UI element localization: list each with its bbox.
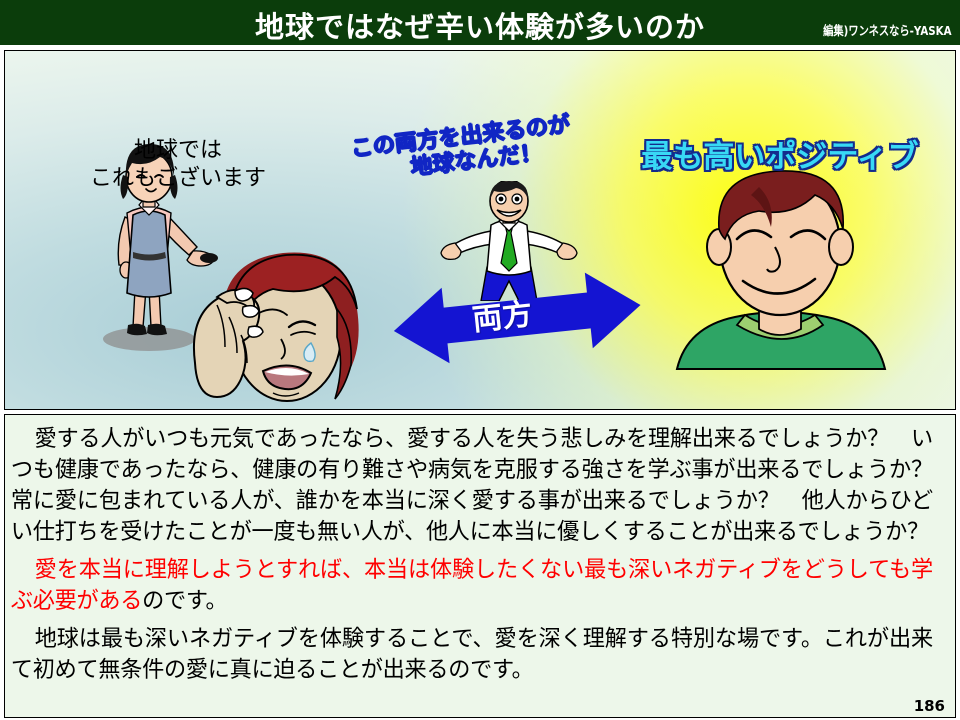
caption-left-line2: これもございます xyxy=(63,165,293,193)
caption-negative: 最も深いネガティブ xyxy=(153,406,473,410)
both-ways-arrow: 両方 xyxy=(387,256,647,376)
sad-face-illustration xyxy=(177,243,403,410)
page-title: 地球ではなぜ辛い体験が多いのか xyxy=(0,4,960,46)
slide: 地球ではなぜ辛い体験が多いのか 編集)ワンネスなら-YASKA xyxy=(0,0,960,720)
body-paragraph-2-tail-text: のです。 xyxy=(142,588,227,614)
body-text-panel: 愛する人がいつも元気であったなら、愛する人を失う悲しみを理解出来るでしょうか？ … xyxy=(4,414,956,718)
caption-left: 地球では これもございます xyxy=(63,137,293,193)
caption-positive: 最も高いポジティブ xyxy=(605,131,955,176)
body-paragraph-1: 愛する人がいつも元気であったなら、愛する人を失う悲しみを理解出来るでしょうか？ … xyxy=(5,415,941,548)
title-bar: 地球ではなぜ辛い体験が多いのか 編集)ワンネスなら-YASKA xyxy=(0,0,960,45)
body-paragraph-2: 愛を本当に理解しようとすれば、本当は体験したくない最も深いネガティブをどうしても… xyxy=(5,548,941,617)
body-paragraph-1-text: 愛する人がいつも元気であったなら、愛する人を失う悲しみを理解出来るでしょうか？ … xyxy=(11,426,955,545)
credit-label: 編集)ワンネスなら-YASKA xyxy=(824,20,952,39)
caption-center: この両方を出来るのが 地球なんだ！ xyxy=(335,111,589,189)
illustration-panel: 両方 地球では こ xyxy=(4,50,956,410)
caption-left-line1: 地球では xyxy=(63,137,293,165)
smiling-man-illustration xyxy=(655,169,905,379)
body-paragraph-3: 地球は最も深いネガティブを体験することで、愛を深く理解する特別な場です。これが出… xyxy=(5,617,941,686)
page-number: 186 xyxy=(914,697,945,715)
body-paragraph-3-text: 地球は最も深いネガティブを体験することで、愛を深く理解する特別な場です。これが出… xyxy=(11,626,933,683)
